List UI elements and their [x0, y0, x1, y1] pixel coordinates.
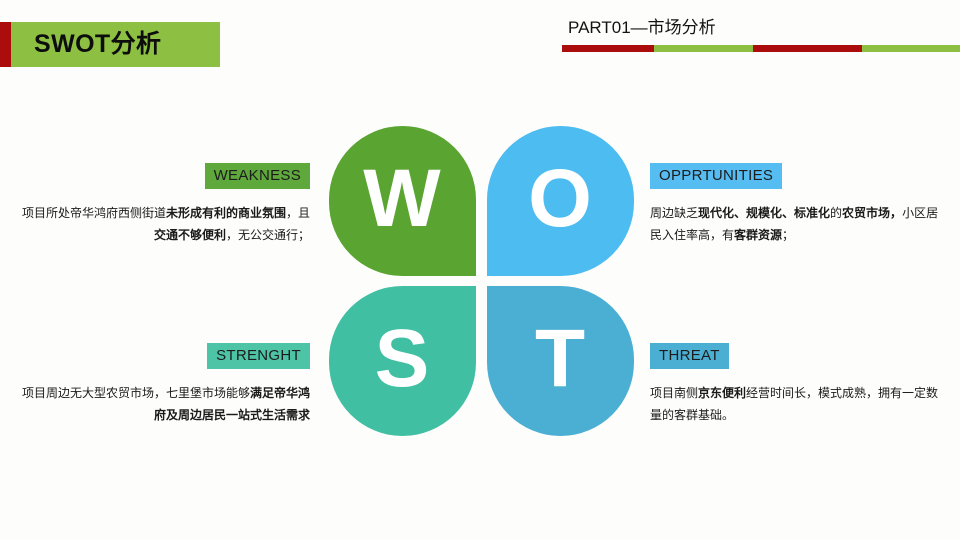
text-run: ，且 — [286, 206, 310, 220]
text-run-bold: 交通不够便利 — [154, 228, 226, 242]
text-run: 项目南侧 — [650, 386, 698, 400]
text-run-bold: 现代化、规模化、标准化 — [698, 206, 830, 220]
slide-header: SWOT分析 PART01—市场分析 — [0, 0, 960, 80]
petal-weakness[interactable]: W — [329, 126, 476, 276]
text-run: 周边缺乏 — [650, 206, 698, 220]
petal-opprtunities[interactable]: O — [487, 126, 634, 276]
body-text-opprtunities: 周边缺乏现代化、规模化、标准化的农贸市场，小区居民入住率高，有客群资源； — [650, 202, 950, 246]
section-breadcrumb: PART01—市场分析 — [568, 17, 716, 39]
quadrant-opprtunities: OPPRTUNITIES 周边缺乏现代化、规模化、标准化的农贸市场，小区居民入住… — [650, 163, 950, 246]
badge-opprtunities: OPPRTUNITIES — [650, 163, 782, 189]
petal-letter-s: S — [375, 318, 431, 400]
body-text-strenght: 项目周边无大型农贸市场，七里堡市场能够满足帝华鸿府及周边居民一站式生活需求 — [10, 382, 310, 426]
badge-weakness: WEAKNESS — [205, 163, 310, 189]
quadrant-threat: THREAT 项目南侧京东便利经营时间长，模式成熟，拥有一定数量的客群基础。 — [650, 343, 950, 426]
divider-segment-3 — [862, 45, 960, 52]
swot-pinwheel-graphic: W O S T — [329, 126, 634, 436]
text-run-bold: 京东便利 — [698, 386, 746, 400]
petal-letter-o: O — [528, 158, 593, 240]
divider-segment-1 — [654, 45, 753, 52]
text-run-bold: 一站式生活需求 — [226, 408, 310, 422]
quadrant-strenght: STRENGHT 项目周边无大型农贸市场，七里堡市场能够满足帝华鸿府及周边居民一… — [10, 343, 310, 426]
text-run-bold: 农贸市场， — [842, 206, 902, 220]
body-text-threat: 项目南侧京东便利经营时间长，模式成熟，拥有一定数量的客群基础。 — [650, 382, 950, 426]
text-run: ，无公交通行； — [226, 228, 310, 242]
petal-letter-t: T — [535, 318, 586, 400]
body-text-weakness: 项目所处帝华鸿府西侧街道未形成有利的商业氛围，且交通不够便利，无公交通行； — [10, 202, 310, 246]
section-divider-rule — [562, 45, 960, 52]
text-run-bold: 未形成有利的商业氛围 — [166, 206, 286, 220]
text-run-bold: 客群资源 — [734, 228, 782, 242]
petal-strenght[interactable]: S — [329, 286, 476, 436]
text-run: 的 — [830, 206, 842, 220]
divider-segment-0 — [562, 45, 654, 52]
text-run: 项目所处帝华鸿府西侧街道 — [22, 206, 166, 220]
quadrant-weakness: WEAKNESS 项目所处帝华鸿府西侧街道未形成有利的商业氛围，且交通不够便利，… — [10, 163, 310, 246]
text-run: ； — [782, 228, 794, 242]
title-red-accent-bar — [0, 22, 11, 67]
badge-threat: THREAT — [650, 343, 729, 369]
page-title: SWOT分析 — [34, 29, 161, 60]
badge-strenght: STRENGHT — [207, 343, 310, 369]
divider-segment-2 — [753, 45, 862, 52]
petal-threat[interactable]: T — [487, 286, 634, 436]
text-run: 项目周边无大型农贸市场，七里堡市场能够 — [22, 386, 250, 400]
petal-letter-w: W — [363, 158, 441, 240]
